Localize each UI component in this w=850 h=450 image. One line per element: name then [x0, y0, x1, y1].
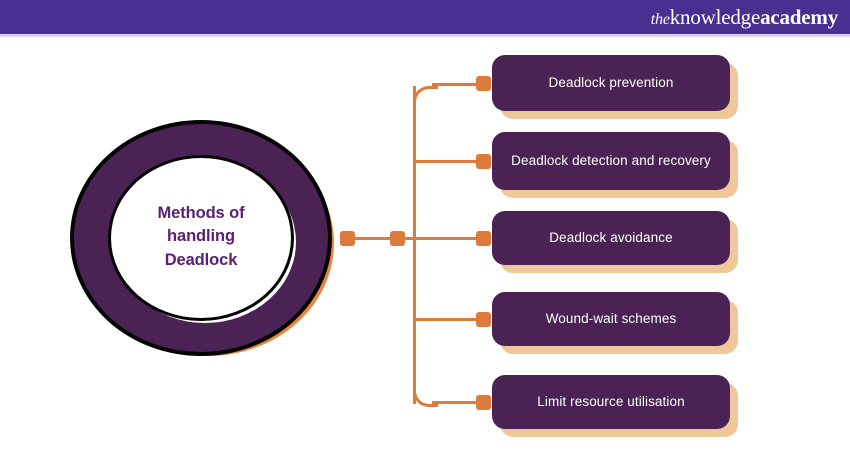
logo-word-knowledge: knowledge: [670, 5, 760, 30]
node-4-label: Wound-wait schemes: [546, 309, 677, 328]
connector-nub-circle: [340, 231, 355, 246]
central-node-label-line2: handling: [118, 225, 284, 248]
connector-nub-node-2: [476, 154, 491, 169]
node-5-body[interactable]: Limit resource utilisation: [492, 375, 730, 429]
connector-nub-node-5: [476, 395, 491, 410]
node-3-label: Deadlock avoidance: [549, 228, 672, 247]
logo-word-academy: academy: [760, 5, 838, 30]
connector-branch-3: [400, 237, 478, 240]
connector-trunk: [413, 86, 416, 404]
header-divider: [0, 34, 850, 37]
connector-branch-5: [432, 401, 478, 404]
connector-branch-1: [432, 83, 478, 86]
the-knowledge-academy-logo[interactable]: theknowledgeacademy: [651, 5, 838, 31]
node-1-label: Deadlock prevention: [549, 73, 674, 92]
connector-bar-hub: [352, 237, 392, 240]
connector-branch-4: [415, 318, 478, 321]
node-2-body[interactable]: Deadlock detection and recovery: [492, 132, 730, 190]
central-node-label: Methods of handling Deadlock: [118, 202, 284, 272]
node-4-body[interactable]: Wound-wait schemes: [492, 292, 730, 346]
connector-nub-node-1: [476, 76, 491, 91]
connector-nub-junction: [390, 231, 405, 246]
connector-branch-2: [415, 160, 478, 163]
logo-word-the: the: [651, 11, 670, 29]
node-2-label: Deadlock detection and recovery: [511, 151, 711, 170]
connector-nub-node-4: [476, 312, 491, 327]
node-5-label: Limit resource utilisation: [537, 392, 684, 411]
central-node-label-line1: Methods of: [118, 202, 284, 225]
connector-nub-node-3: [476, 231, 491, 246]
connector-corner-top: [413, 86, 438, 111]
node-3-body[interactable]: Deadlock avoidance: [492, 211, 730, 265]
connector-corner-bottom: [413, 382, 438, 407]
header-bar: theknowledgeacademy: [0, 0, 850, 34]
node-1-body[interactable]: Deadlock prevention: [492, 55, 730, 111]
central-node-label-line3: Deadlock: [118, 249, 284, 272]
central-node[interactable]: Methods of handling Deadlock: [70, 120, 342, 362]
diagram-canvas: theknowledgeacademy Methods of handling …: [0, 0, 850, 450]
